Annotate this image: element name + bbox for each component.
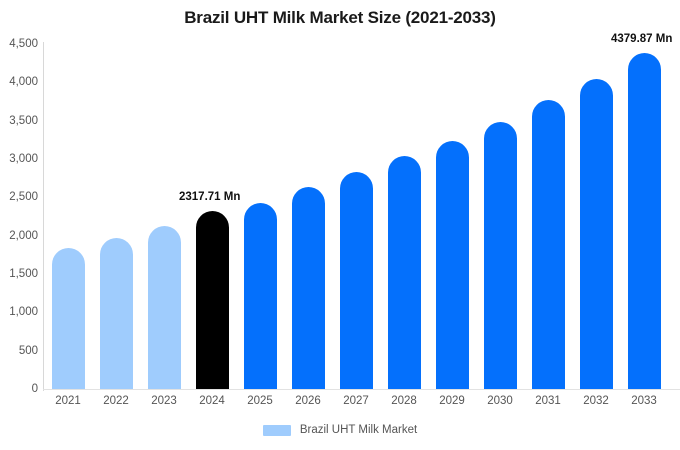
x-axis-tick-2033: 2033 [620, 395, 668, 407]
bar-2027[interactable] [340, 172, 373, 389]
data-label-2033: 4379.87 Mn [611, 33, 672, 45]
x-axis-tick-2026: 2026 [284, 395, 332, 407]
x-axis-tick-2028: 2028 [380, 395, 428, 407]
y-axis-tick-3000: 3,000 [0, 153, 38, 165]
chart-container: Brazil UHT Milk Market Size (2021-2033) … [0, 0, 680, 450]
x-axis-tick-2024: 2024 [188, 395, 236, 407]
bar-2024[interactable] [196, 211, 229, 389]
data-label-2024: 2317.71 Mn [179, 191, 240, 203]
x-axis-tick-2032: 2032 [572, 395, 620, 407]
chart-legend: Brazil UHT Milk Market [0, 424, 680, 436]
bar-2030[interactable] [484, 122, 517, 389]
bar-2033[interactable] [628, 53, 661, 389]
y-axis-tick-2500: 2,500 [0, 191, 38, 203]
y-axis-tick-4000: 4,000 [0, 76, 38, 88]
y-axis-tick-3500: 3,500 [0, 115, 38, 127]
bar-2021[interactable] [52, 248, 85, 389]
y-axis-tick-4500: 4,500 [0, 38, 38, 50]
legend-label-brazil-uht-milk-market: Brazil UHT Milk Market [300, 424, 417, 436]
x-axis-tick-2025: 2025 [236, 395, 284, 407]
y-axis-tick-0: 0 [0, 383, 38, 395]
x-axis-tick-2031: 2031 [524, 395, 572, 407]
bar-2026[interactable] [292, 187, 325, 389]
bar-2032[interactable] [580, 79, 613, 389]
chart-title: Brazil UHT Milk Market Size (2021-2033) [0, 8, 680, 28]
x-axis-tick-2030: 2030 [476, 395, 524, 407]
x-axis-tick-2027: 2027 [332, 395, 380, 407]
x-axis-tick-2023: 2023 [140, 395, 188, 407]
y-axis-tick-500: 500 [0, 345, 38, 357]
x-axis-tick-2029: 2029 [428, 395, 476, 407]
bar-2025[interactable] [244, 203, 277, 389]
bar-2029[interactable] [436, 141, 469, 389]
y-axis-tick-2000: 2,000 [0, 230, 38, 242]
bar-2028[interactable] [388, 156, 421, 389]
y-axis-tick-1500: 1,500 [0, 268, 38, 280]
bar-2022[interactable] [100, 238, 133, 389]
x-axis-tick-2022: 2022 [92, 395, 140, 407]
bar-2023[interactable] [148, 226, 181, 389]
y-axis-line [43, 42, 44, 391]
legend-swatch-brazil-uht-milk-market [263, 425, 291, 436]
y-axis-tick-1000: 1,000 [0, 306, 38, 318]
x-axis-tick-2021: 2021 [44, 395, 92, 407]
x-axis-line [43, 389, 680, 390]
bar-2031[interactable] [532, 100, 565, 389]
